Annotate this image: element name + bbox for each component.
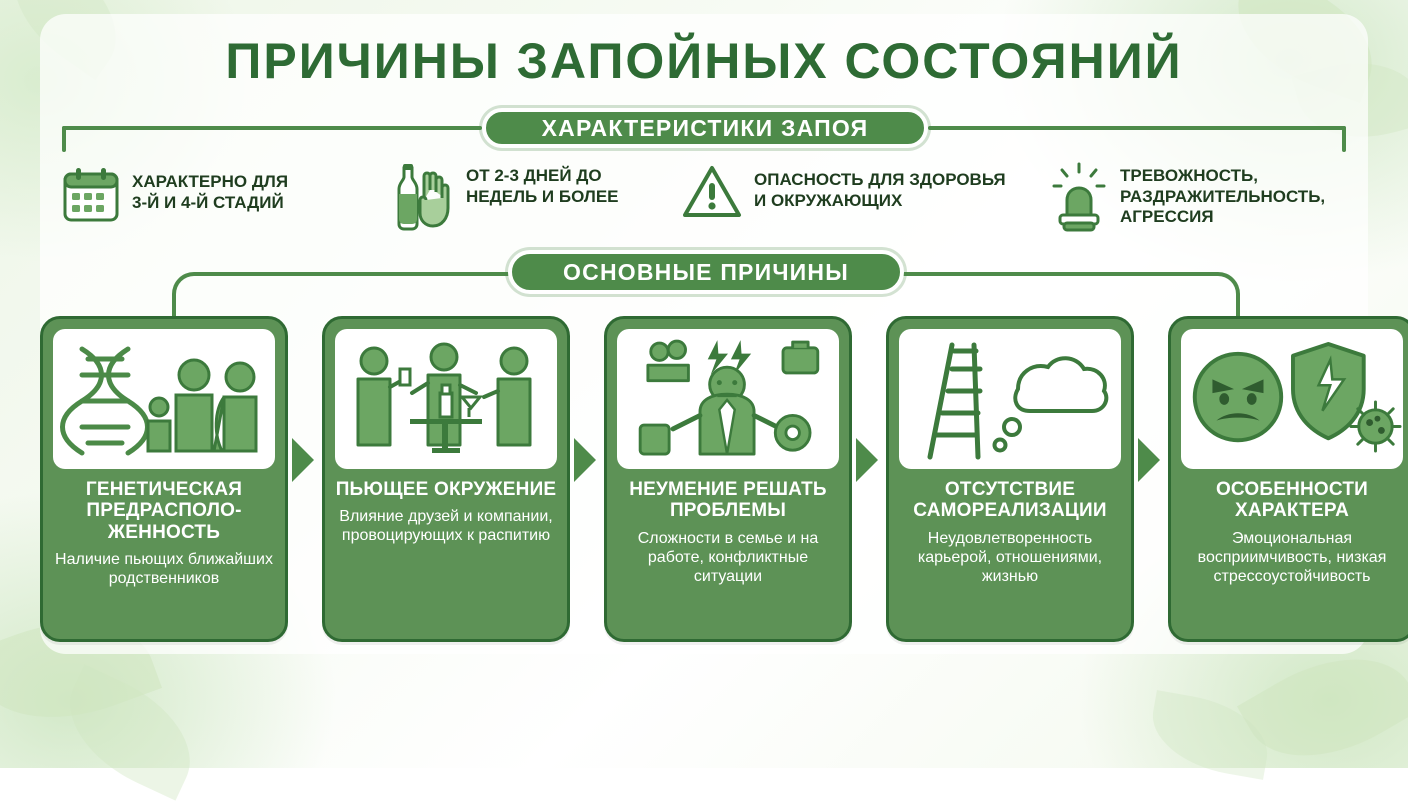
cause-card-problems[interactable]: НЕУМЕНИЕ РЕШАТЬ ПРОБЛЕМЫ Сложности в сем… [604, 316, 852, 642]
dna-family-icon [53, 329, 275, 469]
characteristic-item-4: ТРЕВОЖНОСТЬ, РАЗДРАЖИТЕЛЬНОСТЬ, АГРЕССИЯ [1050, 160, 1325, 234]
stressed-man-icon [617, 329, 839, 469]
characteristic-label: ОПАСНОСТЬ ДЛЯ ЗДОРОВЬЯ И ОКРУЖАЮЩИХ [754, 164, 1006, 211]
drinking-company-icon [335, 329, 557, 469]
characteristic-item-3: ОПАСНОСТЬ ДЛЯ ЗДОРОВЬЯ И ОКРУЖАЮЩИХ [682, 164, 1006, 220]
divider-right [928, 126, 1346, 130]
cause-title: ОСОБЕННОСТИ ХАРАКТЕРА [1181, 479, 1403, 522]
cause-desc: Эмоциональная восприимчивость, низкая ст… [1181, 529, 1403, 587]
cause-desc: Влияние друзей и компании, провоцирующих… [335, 507, 557, 545]
cause-title: НЕУМЕНИЕ РЕШАТЬ ПРОБЛЕМЫ [617, 479, 839, 522]
characteristics-row: ХАРАКТЕРНО ДЛЯ 3-Й И 4-Й СТАДИЙ ОТ 2-3 Д… [62, 160, 1352, 250]
characteristic-label: ТРЕВОЖНОСТЬ, РАЗДРАЖИТЕЛЬНОСТЬ, АГРЕССИЯ [1120, 160, 1325, 228]
ladder-thought-icon [899, 329, 1121, 469]
alarm-light-icon [1050, 160, 1108, 234]
cause-title: ПЬЮЩЕЕ ОКРУЖЕНИЕ [336, 479, 557, 500]
causes-row: ГЕНЕТИЧЕСКАЯ ПРЕДРАСПОЛО-ЖЕННОСТЬ Наличи… [40, 316, 1370, 646]
characteristic-item-2: ОТ 2-3 ДНЕЙ ДО НЕДЕЛЬ И БОЛЕЕ [380, 160, 619, 234]
cause-card-character[interactable]: ОСОБЕННОСТИ ХАРАКТЕРА Эмоциональная восп… [1168, 316, 1408, 642]
cause-card-environment[interactable]: ПЬЮЩЕЕ ОКРУЖЕНИЕ Влияние друзей и компан… [322, 316, 570, 642]
page-title: ПРИЧИНЫ ЗАПОЙНЫХ СОСТОЯНИЙ [0, 32, 1408, 90]
poster-background: ПРИЧИНЫ ЗАПОЙНЫХ СОСТОЯНИЙ ХАРАКТЕРИСТИК… [0, 0, 1408, 768]
cause-desc: Наличие пьющих ближайших родственников [53, 550, 275, 588]
cause-card-genetics[interactable]: ГЕНЕТИЧЕСКАЯ ПРЕДРАСПОЛО-ЖЕННОСТЬ Наличи… [40, 316, 288, 642]
characteristics-pill: ХАРАКТЕРИСТИКИ ЗАПОЯ [482, 108, 928, 148]
angry-face-shield-icon [1181, 329, 1403, 469]
characteristic-label: ОТ 2-3 ДНЕЙ ДО НЕДЕЛЬ И БОЛЕЕ [466, 160, 619, 207]
bottle-hand-icon [380, 160, 454, 234]
arrow-icon [292, 438, 314, 482]
calendar-icon [62, 166, 120, 224]
arrow-icon [574, 438, 596, 482]
characteristic-label: ХАРАКТЕРНО ДЛЯ 3-Й И 4-Й СТАДИЙ [132, 166, 288, 213]
cause-card-selfrealization[interactable]: ОТСУТСТВИЕ САМОРЕАЛИЗАЦИИ Неудовлетворен… [886, 316, 1134, 642]
arrow-icon [1138, 438, 1160, 482]
arrow-icon [856, 438, 878, 482]
cause-title: ОТСУТСТВИЕ САМОРЕАЛИЗАЦИИ [899, 479, 1121, 522]
cause-title: ГЕНЕТИЧЕСКАЯ ПРЕДРАСПОЛО-ЖЕННОСТЬ [53, 479, 275, 543]
cause-desc: Неудовлетворенность карьерой, отношениям… [899, 529, 1121, 587]
cause-desc: Сложности в семье и на работе, конфликтн… [617, 529, 839, 587]
warning-triangle-icon [682, 164, 742, 220]
main-causes-pill: ОСНОВНЫЕ ПРИЧИНЫ [508, 250, 904, 294]
divider-left [62, 126, 482, 130]
characteristic-item-1: ХАРАКТЕРНО ДЛЯ 3-Й И 4-Й СТАДИЙ [62, 166, 288, 224]
